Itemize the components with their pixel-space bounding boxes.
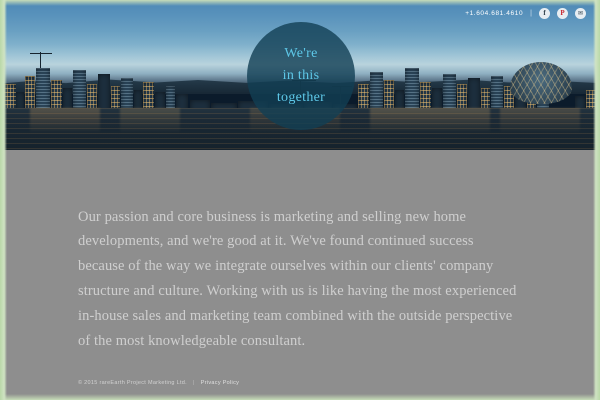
page-root: +1.604.681.4610 | f P ✉ We're in this to… (0, 0, 600, 400)
pinterest-icon[interactable]: P (557, 8, 568, 19)
hero-headline-line-1: We're (277, 43, 325, 65)
body-paragraph: Our passion and core business is marketi… (78, 205, 522, 355)
facebook-icon[interactable]: f (539, 8, 550, 19)
copyright-text: © 2015 rareEarth Project Marketing Ltd. (78, 380, 187, 386)
hero-headline-badge: We're in this together (247, 22, 355, 130)
main-content: Our passion and core business is marketi… (0, 150, 600, 400)
phone-number[interactable]: +1.604.681.4610 (465, 10, 523, 17)
hero-headline-text: We're in this together (277, 43, 325, 108)
email-icon[interactable]: ✉ (575, 8, 586, 19)
privacy-policy-link[interactable]: Privacy Policy (201, 380, 239, 386)
footer: © 2015 rareEarth Project Marketing Ltd. … (78, 380, 239, 386)
hero-banner: +1.604.681.4610 | f P ✉ We're in this to… (0, 0, 600, 150)
hero-headline-line-2: in this (277, 65, 325, 87)
topbar-divider: | (530, 10, 532, 17)
hero-headline-line-3: together (277, 87, 325, 109)
top-contact-bar: +1.604.681.4610 | f P ✉ (465, 8, 586, 19)
footer-separator: | (193, 380, 195, 386)
